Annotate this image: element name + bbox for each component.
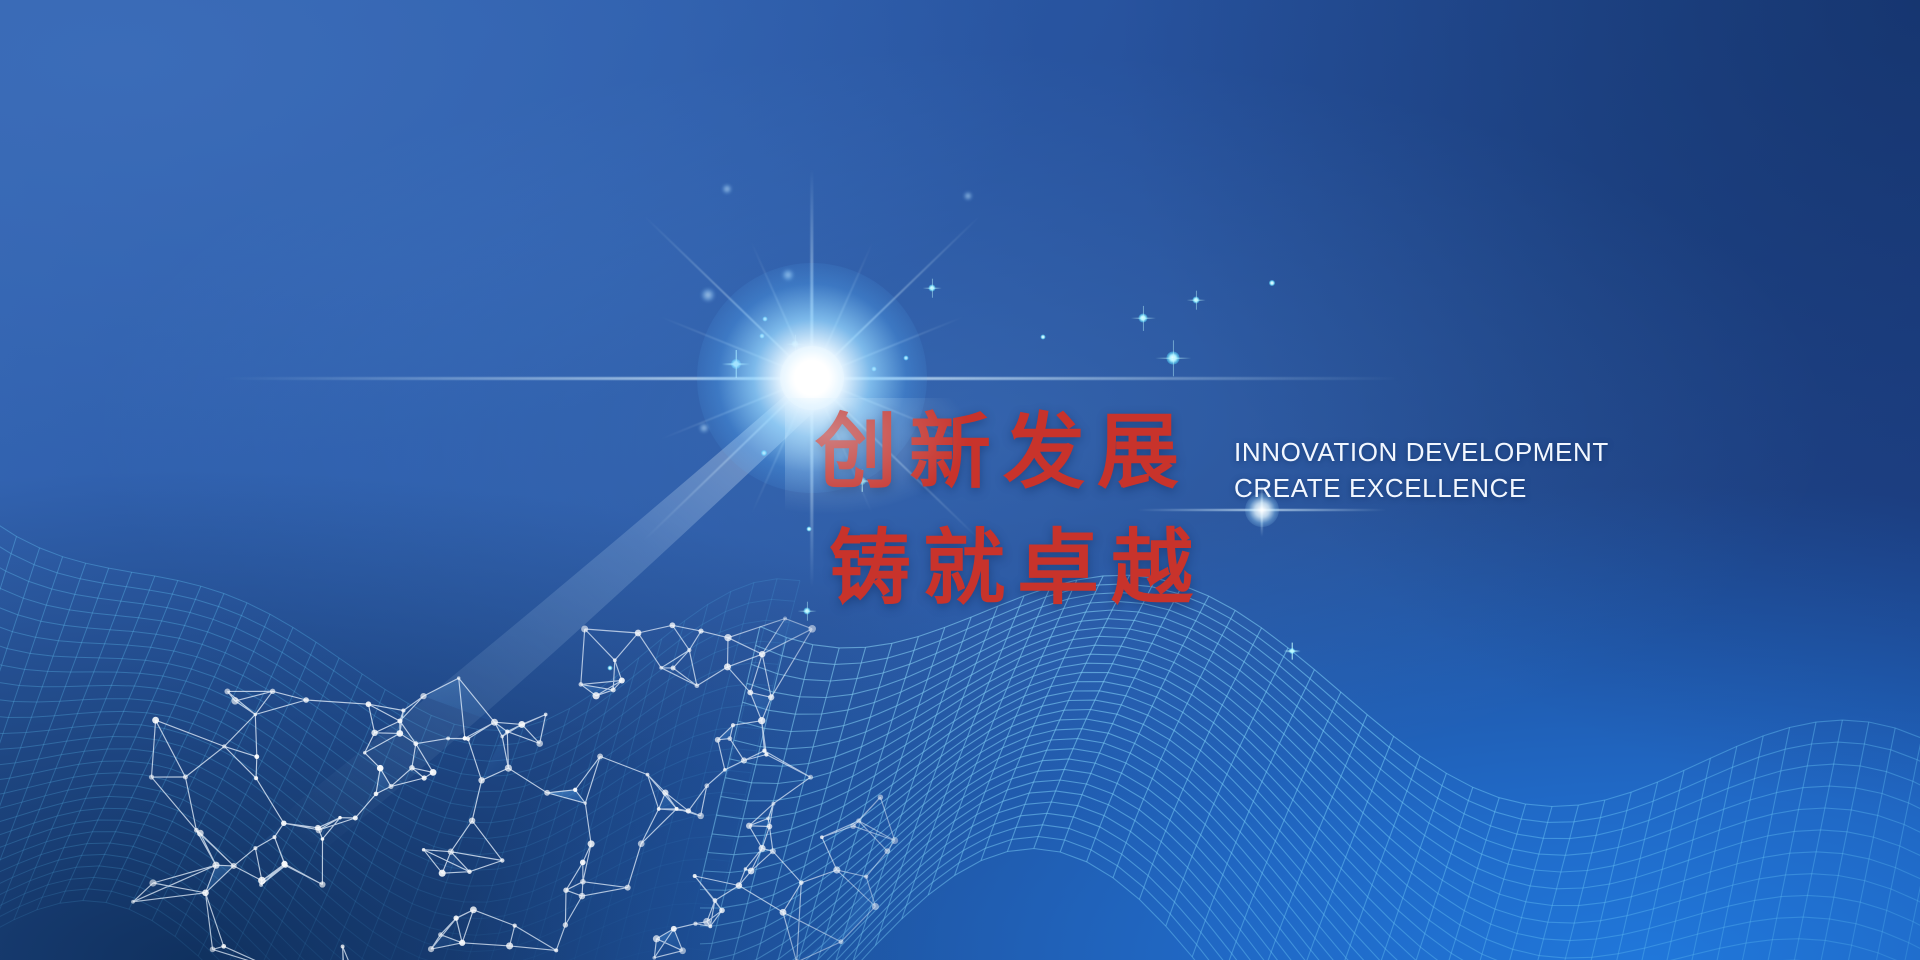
particle-dot [700, 424, 709, 433]
particle-dot [1269, 280, 1275, 286]
particle-dot [1167, 352, 1180, 365]
particle-dot [760, 334, 765, 339]
particle-dot [904, 356, 909, 361]
particle-dot [807, 527, 812, 532]
particle-dot [1139, 314, 1148, 323]
banner-canvas: 创新发展 铸就卓越 INNOVATION DEVELOPMENT CREATE … [0, 0, 1920, 960]
particle-dot [1041, 335, 1046, 340]
headline-chinese-line-2: 铸就卓越 [829, 528, 1205, 610]
particle-dot [872, 367, 877, 372]
particle-dot [702, 289, 715, 302]
headline-english-line-1: INNOVATION DEVELOPMENT [1234, 437, 1609, 468]
particle-dot [761, 450, 767, 456]
particle-dot [804, 608, 811, 615]
headline-block: 创新发展 铸就卓越 INNOVATION DEVELOPMENT CREATE … [815, 404, 1815, 724]
particle-dot [783, 270, 794, 281]
particle-dot [964, 192, 972, 200]
headline-english-line-2: CREATE EXCELLENCE [1234, 473, 1527, 504]
particle-dot [1193, 297, 1200, 304]
particle-dot [731, 359, 741, 369]
particle-dot [608, 666, 613, 671]
particle-dot [792, 341, 799, 348]
particle-dot [723, 185, 732, 194]
particle-dot [763, 317, 768, 322]
particle-dot [929, 285, 936, 292]
headline-chinese-line-1: 创新发展 [815, 412, 1191, 494]
